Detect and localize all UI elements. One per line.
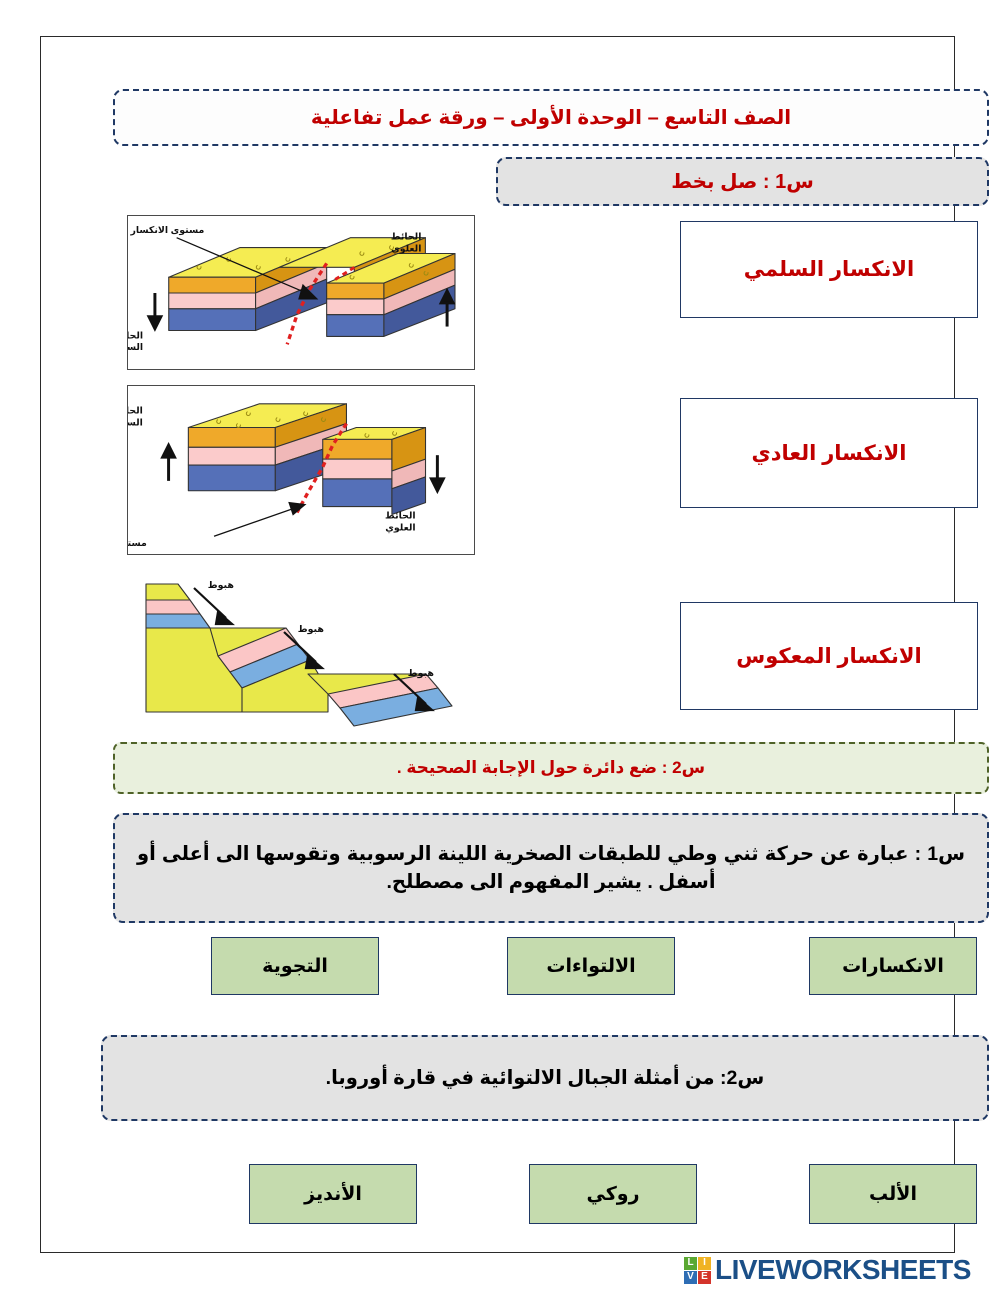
diagram2-foot-wall-label-2: السفلي — [128, 418, 143, 428]
worksheet-page: الصف التاسع – الوحدة الأولى – ورقة عمل ت… — [40, 36, 955, 1253]
liveworksheets-wordmark: LIVEWORKSHEETS — [715, 1254, 971, 1286]
match-answer-box-3[interactable]: الانكسار المعكوس — [680, 602, 978, 710]
diagram2-fault-plane-label: مستوى الانكسار — [128, 538, 147, 549]
liveworksheets-footer: L I V E LIVEWORKSHEETS — [684, 1250, 984, 1290]
q1-instruction-banner: س1 : صل بخط — [496, 157, 989, 206]
mcq2-option-2[interactable]: روكي — [529, 1164, 697, 1224]
diagram2-hanging-wall-label-2: العلوي — [385, 522, 415, 533]
fault-diagram-2[interactable]: الحائط السفلي الحائط العلوي مستوى الانكس… — [127, 385, 475, 555]
page-title: الصف التاسع – الوحدة الأولى – ورقة عمل ت… — [311, 105, 791, 130]
mcq-prompt-2: س2: من أمثلة الجبال الالتوائية في قارة أ… — [101, 1035, 989, 1121]
mcq-options-row-1: الانكسارات الالتواءات التجوية — [101, 937, 989, 999]
mcq-prompt-1-text: س1 : عبارة عن حركة ثني وطي للطبقات الصخر… — [137, 840, 965, 897]
mcq-options-row-2: الألب روكي الأنديز — [101, 1164, 989, 1226]
diagram1-hanging-wall-label-1: الحائط — [391, 232, 422, 242]
match-answer-box-2[interactable]: الانكسار العادي — [680, 398, 978, 508]
mcq2-option-3[interactable]: الأنديز — [249, 1164, 417, 1224]
diagram3-drop-label-1: هبوط — [208, 580, 235, 591]
fault-diagram-3[interactable]: هبوط هبوط هبوط — [132, 570, 475, 728]
match-answer-label-1: الانكسار السلمي — [744, 257, 914, 282]
fault-diagram-1[interactable]: مستوى الانكسار الحائط العلوي الحائط السف… — [127, 215, 475, 370]
liveworksheets-logo-icon: L I V E — [684, 1257, 711, 1284]
mcq1-option-1[interactable]: الانكسارات — [809, 937, 977, 995]
q1-instruction-text: س1 : صل بخط — [671, 169, 814, 194]
diagram1-foot-wall-label-2: السفلي — [128, 342, 143, 352]
q2-instruction-banner: س2 : ضع دائرة حول الإجابة الصحيحة . — [113, 742, 989, 794]
diagram3-drop-label-2: هبوط — [298, 624, 325, 635]
diagram1-fault-plane-label: مستوى الانكسار — [130, 225, 205, 236]
q2-instruction-text: س2 : ضع دائرة حول الإجابة الصحيحة . — [397, 758, 705, 778]
mcq-prompt-2-text: س2: من أمثلة الجبال الالتوائية في قارة أ… — [125, 1064, 965, 1092]
mcq2-option-1[interactable]: الألب — [809, 1164, 977, 1224]
logo-letter-v: V — [684, 1271, 697, 1284]
diagram1-hanging-wall-label-2: العلوي — [391, 244, 421, 255]
diagram1-foot-wall-label-1: الحائط — [128, 330, 143, 340]
diagram3-drop-label-3: هبوط — [408, 668, 435, 679]
match-answer-box-1[interactable]: الانكسار السلمي — [680, 221, 978, 318]
mcq1-option-3[interactable]: التجوية — [211, 937, 379, 995]
logo-letter-l: L — [684, 1257, 697, 1270]
match-answer-label-2: الانكسار العادي — [752, 441, 907, 466]
match-answer-label-3: الانكسار المعكوس — [736, 644, 921, 669]
worksheet-title-banner: الصف التاسع – الوحدة الأولى – ورقة عمل ت… — [113, 89, 989, 146]
diagram2-hanging-wall-label-1: الحائط — [385, 510, 416, 520]
logo-letter-e: E — [698, 1271, 711, 1284]
logo-letter-i: I — [698, 1257, 711, 1270]
mcq1-option-2[interactable]: الالتواءات — [507, 937, 675, 995]
diagram2-foot-wall-label-1: الحائط — [128, 406, 143, 416]
mcq-prompt-1: س1 : عبارة عن حركة ثني وطي للطبقات الصخر… — [113, 813, 989, 923]
